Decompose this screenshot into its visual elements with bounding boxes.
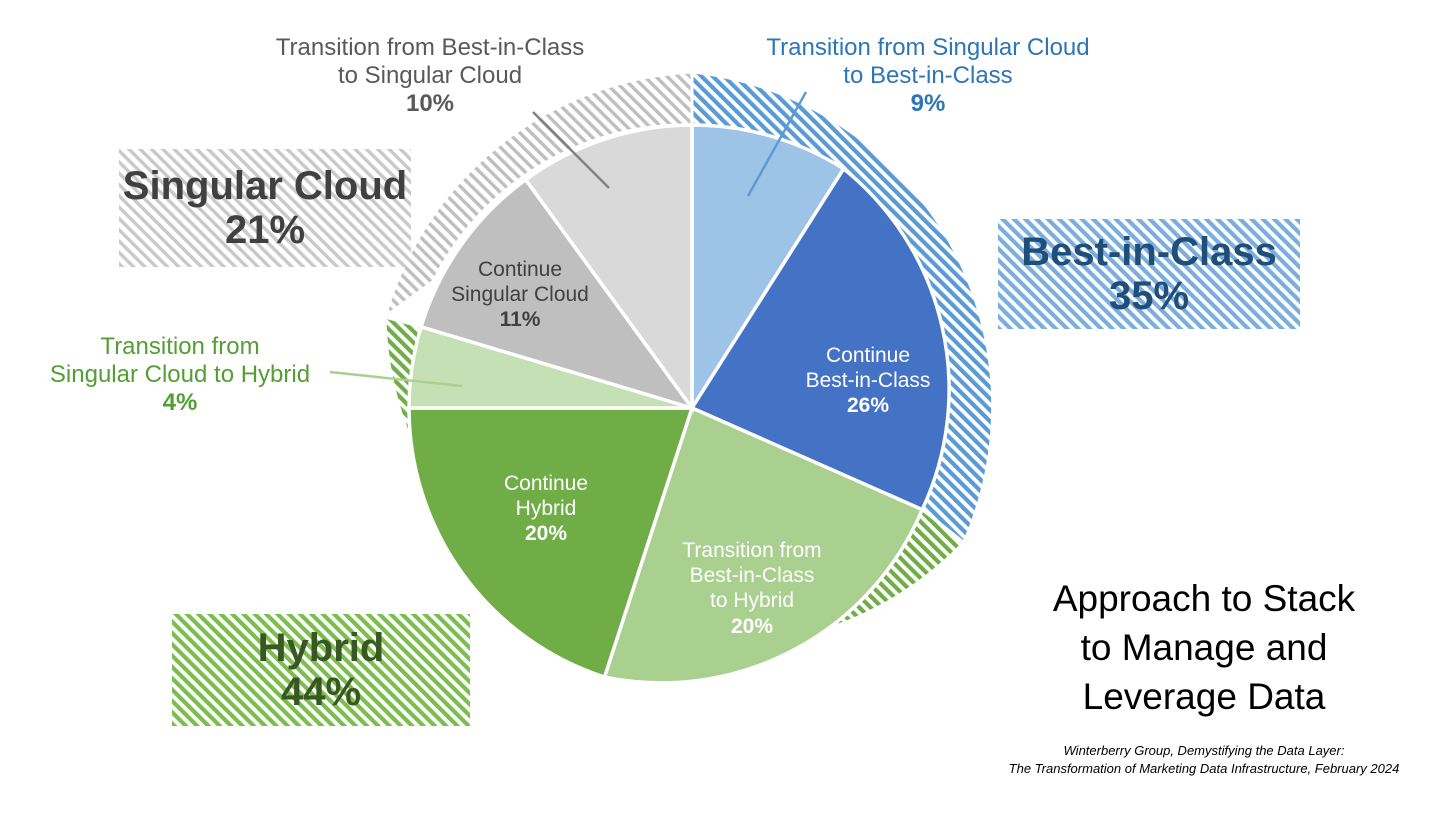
chart-title: Approach to Stack to Manage and Leverage… xyxy=(1004,574,1404,722)
chart-title-line-1: Approach to Stack xyxy=(1053,578,1355,619)
banner-percent: 35% xyxy=(1109,274,1189,318)
banner-label: Hybrid xyxy=(258,626,385,670)
callout-percent: 9% xyxy=(748,90,1108,118)
slice-label-line-1: Continue xyxy=(826,344,910,367)
callout-percent: 10% xyxy=(250,90,610,118)
callout-line-2: to Best-in-Class xyxy=(843,62,1012,89)
callout-line-2: to Singular Cloud xyxy=(338,62,522,89)
slice-label-percent: 20% xyxy=(672,614,832,639)
callout-percent: 4% xyxy=(32,389,328,417)
callout-line-2: Singular Cloud to Hybrid xyxy=(50,361,310,388)
callout-transition-singular-cloud-to-best-in-class: Transition from Singular Cloud to Best-i… xyxy=(748,34,1108,117)
callout-transition-best-in-class-to-singular-cloud: Transition from Best-in-Class to Singula… xyxy=(250,34,610,117)
callout-line-1: Transition from Best-in-Class xyxy=(276,34,585,61)
slice-label-line-1: Continue xyxy=(478,258,562,281)
slice-label-line-3: to Hybrid xyxy=(710,589,794,612)
slice-label-line-1: Transition from xyxy=(682,539,821,562)
chart-title-line-2: to Manage and xyxy=(1081,627,1328,668)
banner-singular-cloud: Singular Cloud 21% xyxy=(119,153,411,263)
callout-line-1: Transition from Singular Cloud xyxy=(766,34,1089,61)
slice-label-continue-singular-cloud: Continue Singular Cloud 11% xyxy=(443,257,597,333)
chart-title-line-3: Leverage Data xyxy=(1083,676,1326,717)
slice-label-transition-best-in-class-to-hybrid: Transition from Best-in-Class to Hybrid … xyxy=(672,538,832,639)
banner-best-in-class: Best-in-Class 35% xyxy=(998,222,1300,326)
slice-label-line-2: Hybrid xyxy=(516,497,577,520)
banner-label: Singular Cloud xyxy=(123,164,407,208)
pie-chart-figure: Transition from Best-in-Class to Singula… xyxy=(0,0,1456,816)
callout-line-1: Transition from xyxy=(100,333,259,360)
banner-percent: 21% xyxy=(225,208,305,252)
source-line-2: The Transformation of Marketing Data Inf… xyxy=(1009,761,1400,776)
slice-label-percent: 26% xyxy=(790,393,946,418)
slice-label-line-2: Best-in-Class xyxy=(806,369,931,392)
callout-transition-singular-cloud-to-hybrid: Transition from Singular Cloud to Hybrid… xyxy=(32,333,328,416)
slice-label-continue-hybrid: Continue Hybrid 20% xyxy=(468,471,624,547)
banner-label: Best-in-Class xyxy=(1021,230,1277,274)
banner-hybrid: Hybrid 44% xyxy=(172,617,470,723)
banner-percent: 44% xyxy=(281,670,361,714)
chart-source-citation: Winterberry Group, Demystifying the Data… xyxy=(964,742,1444,779)
slice-label-line-1: Continue xyxy=(504,472,588,495)
source-line-1: Winterberry Group, Demystifying the Data… xyxy=(1064,743,1345,758)
slice-label-continue-best-in-class: Continue Best-in-Class 26% xyxy=(790,343,946,419)
slice-label-percent: 20% xyxy=(468,521,624,546)
slice-label-percent: 11% xyxy=(443,307,597,332)
slice-label-line-2: Singular Cloud xyxy=(451,283,589,306)
slice-label-line-2: Best-in-Class xyxy=(690,564,815,587)
